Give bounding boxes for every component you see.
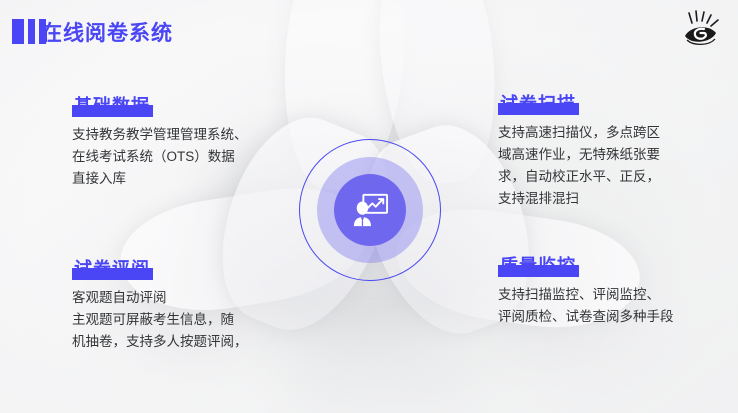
- feature-heading-wrap: 试卷扫描: [498, 90, 579, 116]
- feature-heading-wrap: 试卷评阅: [72, 255, 153, 281]
- feature-heading: 质量监控: [500, 256, 576, 276]
- emblem-core: [334, 174, 406, 246]
- feature-heading: 基础数据: [74, 96, 150, 116]
- slide-header: 在线阅卷系统: [0, 0, 738, 62]
- center-emblem: [299, 139, 441, 281]
- feature-basic-data: 基础数据 支持教务教学管理管理系统、 在线考试系统（OTS）数据 直接入库: [72, 92, 248, 190]
- feature-heading-wrap: 基础数据: [72, 92, 153, 118]
- accent-bar: [28, 19, 35, 44]
- feature-body: 客观题自动评阅 主观题可屏蔽考生信息，随 机抽卷，支持多人按题评阅，: [72, 287, 248, 353]
- feature-body: 支持高速扫描仪，多点跨区 域高速作业，无特殊纸张要 求，自动校正水平、正反， 支…: [498, 122, 660, 209]
- feature-heading: 试卷评阅: [74, 259, 150, 279]
- feature-body: 支持教务教学管理管理系统、 在线考试系统（OTS）数据 直接入库: [72, 124, 248, 190]
- accent-bar: [12, 19, 24, 44]
- page-title: 在线阅卷系统: [41, 17, 173, 47]
- feature-quality-monitor: 质量监控 支持扫描监控、评阅监控、 评阅质检、试卷查阅多种手段: [498, 252, 674, 328]
- feature-heading-wrap: 质量监控: [498, 252, 579, 278]
- feature-paper-review: 试卷评阅 客观题自动评阅 主观题可屏蔽考生信息，随 机抽卷，支持多人按题评阅，: [72, 255, 248, 353]
- feature-body: 支持扫描监控、评阅监控、 评阅质检、试卷查阅多种手段: [498, 284, 674, 328]
- feature-heading: 试卷扫描: [500, 94, 576, 114]
- presenter-chart-icon: [351, 192, 389, 228]
- feature-paper-scan: 试卷扫描 支持高速扫描仪，多点跨区 域高速作业，无特殊纸张要 求，自动校正水平、…: [498, 90, 660, 209]
- slide-canvas: 在线阅卷系统: [0, 0, 738, 413]
- eye-logo-icon: [678, 10, 720, 50]
